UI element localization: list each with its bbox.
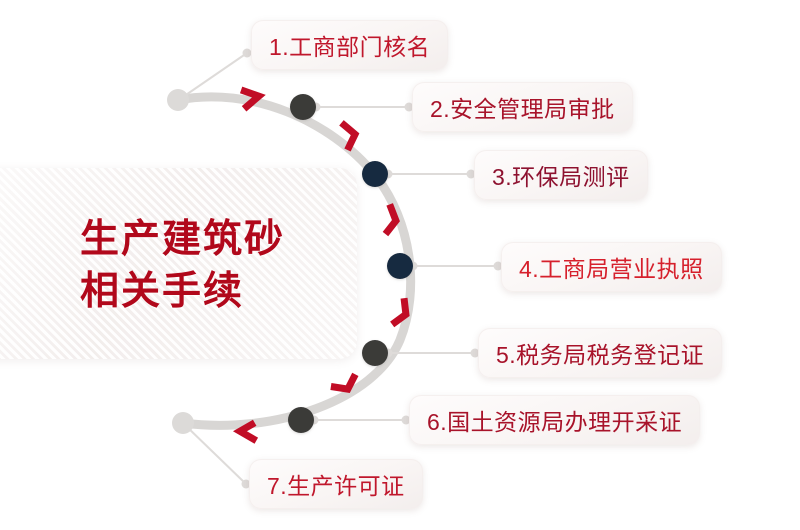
step-label-text-7: 7.生产许可证 (267, 467, 405, 501)
step-node-6[interactable] (288, 407, 314, 433)
step-label-4[interactable]: 4.工商局营业执照 (501, 242, 722, 292)
connector-line-1 (180, 53, 247, 99)
step-label-text-1: 1.工商部门核名 (269, 28, 430, 62)
step-label-text-6: 6.国土资源局办理开采证 (427, 403, 682, 437)
step-label-text-3: 3.环保局测评 (492, 158, 630, 192)
step-node-4[interactable] (387, 253, 413, 279)
step-node-1[interactable] (167, 89, 189, 111)
connector-line-7 (185, 425, 246, 484)
step-label-text-5: 5.税务局税务登记证 (496, 336, 704, 370)
flow-arrow-5 (331, 374, 356, 390)
step-node-2[interactable] (290, 94, 316, 120)
step-label-2[interactable]: 2.安全管理局审批 (412, 82, 633, 132)
step-label-1[interactable]: 1.工商部门核名 (251, 20, 448, 70)
arc-path (178, 97, 411, 425)
step-label-text-2: 2.安全管理局审批 (430, 90, 615, 124)
infographic-canvas: 生产建筑砂 相关手续 (0, 0, 800, 530)
step-node-7[interactable] (172, 412, 194, 434)
step-node-3[interactable] (362, 161, 388, 187)
step-label-3[interactable]: 3.环保局测评 (474, 150, 648, 200)
step-label-6[interactable]: 6.国土资源局办理开采证 (409, 395, 700, 445)
step-label-text-4: 4.工商局营业执照 (519, 250, 704, 284)
step-node-5[interactable] (362, 340, 388, 366)
step-label-7[interactable]: 7.生产许可证 (249, 459, 423, 509)
step-label-5[interactable]: 5.税务局税务登记证 (478, 328, 722, 378)
